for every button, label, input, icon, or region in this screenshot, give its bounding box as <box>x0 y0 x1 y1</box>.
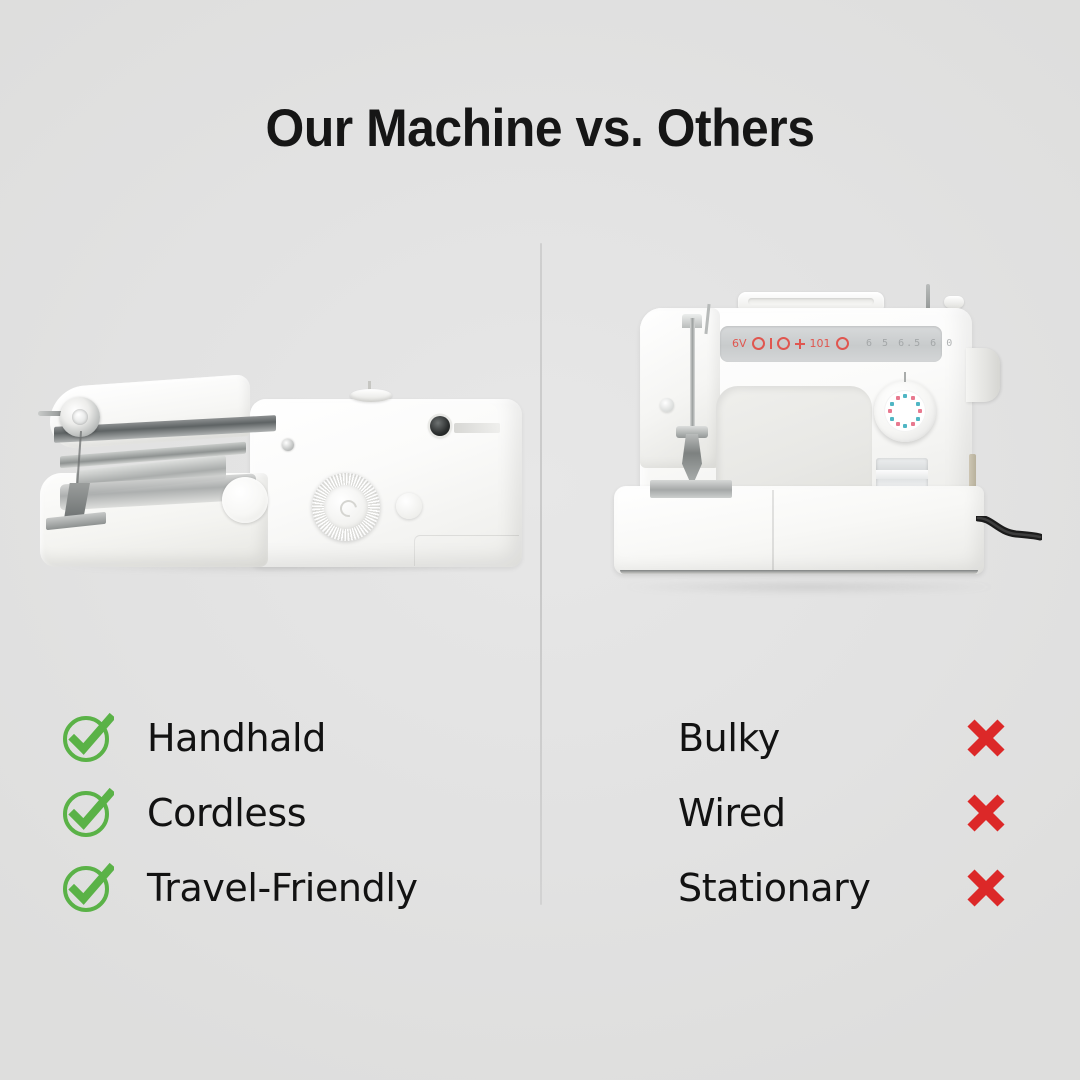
dial-tick-mark <box>896 422 900 426</box>
list-item: Wired <box>678 775 1008 850</box>
stitch-circle-icon <box>777 337 790 350</box>
dial-tick-mark <box>916 417 920 421</box>
comparison-infographic: Our Machine vs. Others <box>0 0 1080 1080</box>
feature-label: Stationary <box>678 866 871 910</box>
check-circle-icon <box>62 712 114 764</box>
feature-label: Cordless <box>147 791 306 835</box>
machine-base-seam <box>772 490 774 572</box>
feature-label: Travel-Friendly <box>147 866 418 910</box>
stitch-symbol-text: 101 <box>810 338 831 349</box>
machine-needle-bar <box>690 318 695 436</box>
handheld-round-button <box>222 477 268 523</box>
handheld-small-button <box>396 493 422 519</box>
left-feature-list: Handhald Cordless Travel-Friendly <box>62 700 492 925</box>
feature-label: Handhald <box>147 716 326 760</box>
stitch-symbol-text: 6V <box>732 338 747 349</box>
machine-stitch-symbols: 6V 101 <box>732 337 849 350</box>
feature-label: Bulky <box>678 716 780 760</box>
dial-tick-mark <box>911 422 915 426</box>
handheld-screw <box>282 439 294 451</box>
machine-front-slot-bar <box>876 470 928 479</box>
dial-tick-mark <box>896 396 900 400</box>
list-item: Stationary <box>678 850 1008 925</box>
machine-base <box>614 486 984 574</box>
dial-tick-mark <box>888 409 892 413</box>
stitch-circle-icon <box>836 337 849 350</box>
full-size-sewing-machine-image: 6V 101 6 5 6.5 6 0 <box>604 268 1044 598</box>
dial-tick-mark <box>916 402 920 406</box>
machine-base-foot <box>620 570 978 574</box>
cross-icon <box>964 866 1008 910</box>
check-circle-icon <box>62 862 114 914</box>
list-item: Cordless <box>62 775 492 850</box>
machine-tension-disc <box>660 398 674 412</box>
list-item: Bulky <box>678 700 1008 775</box>
handheld-spool-holder <box>350 389 392 402</box>
list-item: Handhald <box>62 700 492 775</box>
machine-dial-pointer <box>904 372 906 382</box>
cross-icon <box>964 791 1008 835</box>
dial-tick-mark <box>918 409 922 413</box>
list-item: Travel-Friendly <box>62 850 492 925</box>
machine-power-cord <box>976 516 1042 542</box>
machine-bobbin-winder <box>944 296 964 308</box>
vertical-divider <box>540 243 542 905</box>
stitch-bar-icon <box>770 338 772 349</box>
handheld-bobbin-core <box>72 409 88 425</box>
stitch-plus-icon <box>795 339 805 349</box>
machine-dial-face <box>884 390 926 432</box>
dial-tick-mark <box>911 396 915 400</box>
handheld-sewing-machine-image <box>24 375 524 590</box>
feature-label: Wired <box>678 791 786 835</box>
machine-head <box>640 308 720 468</box>
machine-needle-plate <box>650 480 732 498</box>
dial-tick-mark <box>890 402 894 406</box>
handheld-power-jack <box>430 416 450 436</box>
cross-icon <box>964 716 1008 760</box>
right-feature-list: Bulky Wired Stationary <box>678 700 1008 925</box>
stitch-circle-icon <box>752 337 765 350</box>
machine-shadow <box>624 580 994 594</box>
dial-tick-mark <box>903 424 907 428</box>
handheld-battery-door-seam <box>414 535 519 566</box>
handheld-brand-mark <box>454 423 500 433</box>
dial-tick-mark <box>903 394 907 398</box>
check-circle-icon <box>62 787 114 839</box>
machine-hand-wheel <box>966 348 1000 402</box>
dial-tick-mark <box>890 417 894 421</box>
machine-handle-slot <box>748 298 874 305</box>
machine-panel-numbers: 6 5 6.5 6 0 <box>866 338 954 349</box>
page-title: Our Machine vs. Others <box>32 98 1047 159</box>
